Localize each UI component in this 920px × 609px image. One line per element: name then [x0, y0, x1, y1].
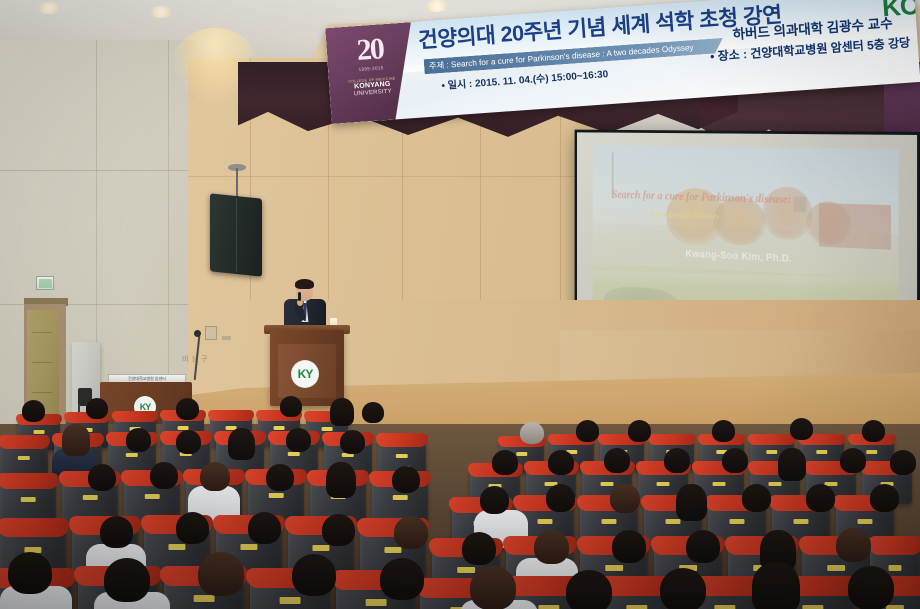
audience-head [546, 484, 575, 512]
audience-head [660, 568, 706, 609]
wall-control-panel [205, 326, 217, 340]
ceiling-downlight [424, 0, 450, 12]
audience-head [322, 514, 355, 546]
wall-outlet [222, 336, 231, 340]
exit-sign [36, 276, 54, 290]
audience-head [534, 530, 569, 564]
auditorium-photo: 20 1995-2015 COLLEGE OF MEDICINE KONYANG… [0, 0, 920, 609]
audience-head [326, 462, 356, 498]
audience-head [492, 450, 518, 475]
audience-head [862, 420, 885, 442]
audience-head [286, 428, 311, 452]
audience-head [266, 464, 294, 491]
audience-head [200, 462, 230, 491]
audience-head [848, 566, 894, 609]
audience-head [836, 528, 871, 562]
ceiling-downlight [148, 6, 174, 18]
audience-head [340, 430, 365, 454]
audience-head [394, 516, 428, 549]
audience-head [198, 552, 244, 596]
audience-head [890, 450, 916, 475]
audience-head [176, 430, 201, 454]
audience-head [292, 554, 336, 596]
audience-head [150, 462, 178, 489]
audience-head [610, 484, 640, 513]
audience-head [722, 448, 748, 473]
audience-head [100, 516, 133, 548]
audience-head [870, 484, 899, 512]
audience-head [88, 464, 116, 491]
audience-head [470, 566, 516, 609]
audience-head [228, 428, 255, 460]
audience-head [362, 402, 384, 423]
audience-head [676, 484, 707, 521]
hanging-loudspeaker [210, 193, 262, 276]
konyang-20th-anniversary-emblem: 20 1995-2015 COLLEGE OF MEDICINE KONYANG… [325, 22, 418, 124]
seat [0, 476, 56, 524]
microphone-head-icon [194, 330, 201, 337]
audience-head [462, 532, 496, 565]
audience-head [176, 398, 199, 420]
konyang-logo-icon: KO [881, 0, 920, 23]
audience-head [126, 428, 151, 452]
audience-head [22, 400, 45, 422]
audience-head [8, 552, 52, 594]
audience-head [62, 424, 90, 456]
audience-head [280, 396, 302, 417]
audience-head [566, 570, 612, 609]
audience-head [86, 398, 108, 419]
audience-head [752, 562, 800, 609]
audience-head [392, 466, 420, 493]
audience-head [778, 448, 806, 481]
audience-head [480, 486, 509, 514]
ceiling-downlight [36, 2, 62, 14]
audience-head [664, 448, 690, 473]
audience-head [604, 448, 630, 473]
audience-head [612, 530, 646, 563]
audience-head [176, 512, 209, 544]
audience-head [742, 484, 771, 512]
audience-head [330, 398, 354, 426]
audience-head [806, 484, 835, 512]
audience-head [548, 450, 574, 475]
audience-head [840, 448, 866, 473]
audience-head [628, 420, 651, 442]
audience-head [104, 558, 150, 602]
audience-head [520, 422, 544, 444]
audience-head [380, 558, 424, 600]
emblem-number: 20 [326, 32, 414, 68]
audience-head [712, 420, 735, 442]
handheld-microphone-icon [298, 292, 301, 301]
podium-ky-logo-icon: KY [291, 360, 319, 388]
audience-head [248, 512, 281, 544]
audience-head [686, 530, 720, 563]
audience-head [576, 420, 599, 442]
audience-head [790, 418, 813, 440]
